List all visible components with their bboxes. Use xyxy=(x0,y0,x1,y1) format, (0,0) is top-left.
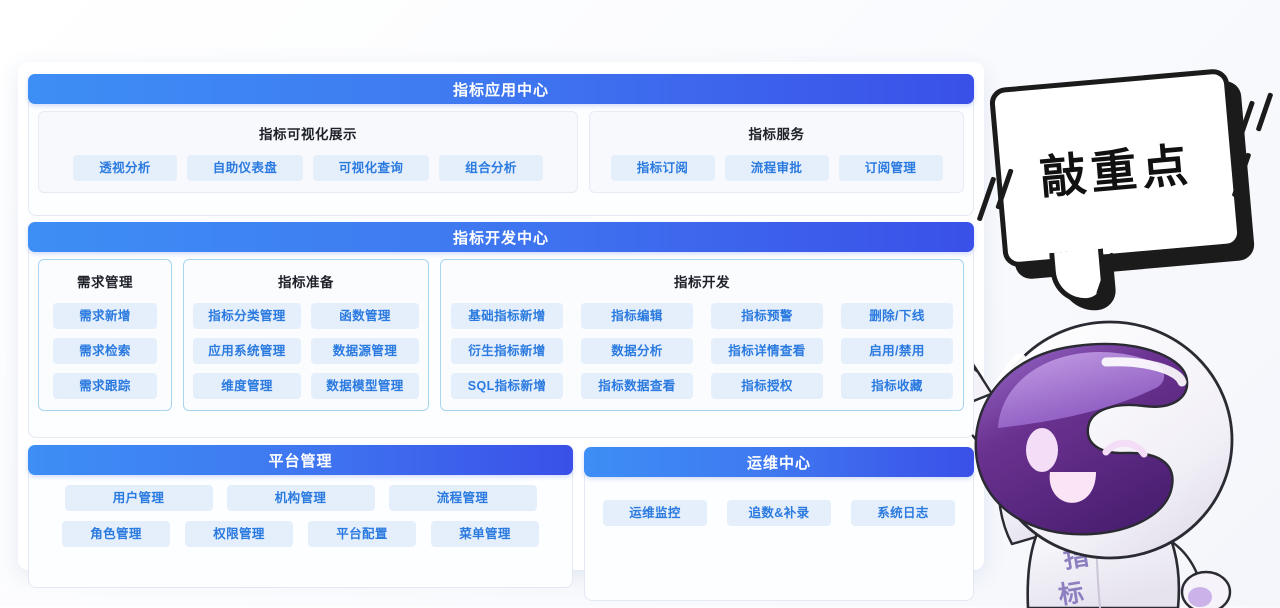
section-application-center: 指标应用中心 指标可视化展示 透视分析 自助仪表盘 可视化查询 组合分析 指标服… xyxy=(28,74,974,216)
section-body-operations-center: 运维监控 追数&补录 系统日志 xyxy=(584,474,974,601)
chip-metric-data-view[interactable]: 指标数据查看 xyxy=(581,373,693,399)
section-body-application-center: 指标可视化展示 透视分析 自助仪表盘 可视化查询 组合分析 指标服务 指标订阅 … xyxy=(28,101,974,216)
chip-base-metric-create[interactable]: 基础指标新增 xyxy=(451,303,563,329)
chip-self-service-dashboard[interactable]: 自助仪表盘 xyxy=(187,155,303,181)
chip-sql-metric-create[interactable]: SQL指标新增 xyxy=(451,373,563,399)
group-title-visualization: 指标可视化展示 xyxy=(49,123,567,143)
section-body-development-center: 需求管理 需求新增 需求检索 需求跟踪 指标准备 指标分类管理 函数管理 应用系… xyxy=(28,249,974,438)
chip-data-model-management[interactable]: 数据模型管理 xyxy=(311,373,419,399)
chip-role-management[interactable]: 角色管理 xyxy=(62,521,170,547)
chip-metric-subscription[interactable]: 指标订阅 xyxy=(611,155,715,181)
chip-dimension-management[interactable]: 维度管理 xyxy=(193,373,301,399)
chip-metric-alert[interactable]: 指标预警 xyxy=(711,303,823,329)
chip-requirement-search[interactable]: 需求检索 xyxy=(53,338,157,364)
poster-canvas: 指标应用中心 指标可视化展示 透视分析 自助仪表盘 可视化查询 组合分析 指标服… xyxy=(0,0,1280,606)
chip-requirement-tracking[interactable]: 需求跟踪 xyxy=(53,373,157,399)
group-title-metric-preparation: 指标准备 xyxy=(194,271,418,291)
chip-metric-detail-view[interactable]: 指标详情查看 xyxy=(711,338,823,364)
group-card-metric-development: 指标开发 基础指标新增 指标编辑 指标预警 删除/下线 衍生指标新增 数据分析 … xyxy=(440,259,964,411)
chip-org-management[interactable]: 机构管理 xyxy=(227,485,375,511)
chip-derived-metric-create[interactable]: 衍生指标新增 xyxy=(451,338,563,364)
architecture-panel: 指标应用中心 指标可视化展示 透视分析 自助仪表盘 可视化查询 组合分析 指标服… xyxy=(18,62,984,570)
chip-list-metric-service: 指标订阅 流程审批 订阅管理 xyxy=(600,155,953,181)
chip-datasource-management[interactable]: 数据源管理 xyxy=(311,338,419,364)
speech-bubble-text: 敲重点 xyxy=(989,68,1244,268)
chip-list-metric-preparation: 指标分类管理 函数管理 应用系统管理 数据源管理 维度管理 数据模型管理 xyxy=(194,303,418,399)
section-body-platform-management: 用户管理 机构管理 流程管理 角色管理 权限管理 平台配置 菜单管理 xyxy=(28,472,573,588)
group-card-metric-service: 指标服务 指标订阅 流程审批 订阅管理 xyxy=(589,111,964,193)
chip-perspective-analysis[interactable]: 透视分析 xyxy=(73,155,177,181)
section-header-platform-management: 平台管理 xyxy=(28,445,573,475)
chip-metric-edit[interactable]: 指标编辑 xyxy=(581,303,693,329)
chip-list-metric-development: 基础指标新增 指标编辑 指标预警 删除/下线 衍生指标新增 数据分析 指标详情查… xyxy=(451,303,953,399)
section-header-application-center: 指标应用中心 xyxy=(28,74,974,104)
chip-row-platform-1: 用户管理 机构管理 流程管理 xyxy=(38,485,563,511)
chip-list-requirement-management: 需求新增 需求检索 需求跟踪 xyxy=(49,303,161,399)
chip-enable-disable[interactable]: 启用/禁用 xyxy=(841,338,953,364)
chip-metric-authorization[interactable]: 指标授权 xyxy=(711,373,823,399)
mascot-chest-label-2: 标 xyxy=(1056,577,1085,608)
chip-permission-management[interactable]: 权限管理 xyxy=(185,521,293,547)
chip-subscription-management[interactable]: 订阅管理 xyxy=(839,155,943,181)
chip-ops-monitoring[interactable]: 运维监控 xyxy=(603,500,707,526)
group-title-requirement-management: 需求管理 xyxy=(49,271,161,291)
chip-list-visualization: 透视分析 自助仪表盘 可视化查询 组合分析 xyxy=(49,155,567,181)
chip-backfill-recovery[interactable]: 追数&补录 xyxy=(727,500,831,526)
chip-delete-offline[interactable]: 删除/下线 xyxy=(841,303,953,329)
chip-combined-analysis[interactable]: 组合分析 xyxy=(439,155,543,181)
chip-process-approval[interactable]: 流程审批 xyxy=(725,155,829,181)
group-card-metric-preparation: 指标准备 指标分类管理 函数管理 应用系统管理 数据源管理 维度管理 数据模型管… xyxy=(183,259,429,411)
section-operations-center: 运维中心 运维监控 追数&补录 系统日志 xyxy=(584,447,974,601)
chip-process-management[interactable]: 流程管理 xyxy=(389,485,537,511)
section-header-development-center: 指标开发中心 xyxy=(28,222,974,252)
chip-row-operations-1: 运维监控 追数&补录 系统日志 xyxy=(594,500,964,526)
section-header-operations-center: 运维中心 xyxy=(584,447,974,477)
chip-data-analysis[interactable]: 数据分析 xyxy=(581,338,693,364)
chip-visual-query[interactable]: 可视化查询 xyxy=(313,155,429,181)
chip-system-log[interactable]: 系统日志 xyxy=(851,500,955,526)
chip-row-platform-2: 角色管理 权限管理 平台配置 菜单管理 xyxy=(38,521,563,547)
group-title-metric-development: 指标开发 xyxy=(451,271,953,291)
group-card-visualization: 指标可视化展示 透视分析 自助仪表盘 可视化查询 组合分析 xyxy=(38,111,578,193)
chip-requirement-create[interactable]: 需求新增 xyxy=(53,303,157,329)
chip-function-management[interactable]: 函数管理 xyxy=(311,303,419,329)
motion-line-right-2 xyxy=(1256,92,1274,131)
chip-metric-favorite[interactable]: 指标收藏 xyxy=(841,373,953,399)
chip-menu-management[interactable]: 菜单管理 xyxy=(431,521,539,547)
section-platform-management: 平台管理 用户管理 机构管理 流程管理 角色管理 权限管理 平台配置 菜单管理 xyxy=(28,445,573,588)
group-card-requirement-management: 需求管理 需求新增 需求检索 需求跟踪 xyxy=(38,259,172,411)
chip-application-system-management[interactable]: 应用系统管理 xyxy=(193,338,301,364)
group-title-metric-service: 指标服务 xyxy=(600,123,953,143)
motion-line-right-1 xyxy=(1236,100,1255,143)
callout-speech-bubble: 敲重点 xyxy=(989,68,1244,268)
chip-platform-config[interactable]: 平台配置 xyxy=(308,521,416,547)
chip-metric-category-management[interactable]: 指标分类管理 xyxy=(193,303,301,329)
section-development-center: 指标开发中心 需求管理 需求新增 需求检索 需求跟踪 指标准备 xyxy=(28,222,974,438)
mascot-eye-left xyxy=(1026,428,1058,472)
chip-user-management[interactable]: 用户管理 xyxy=(65,485,213,511)
